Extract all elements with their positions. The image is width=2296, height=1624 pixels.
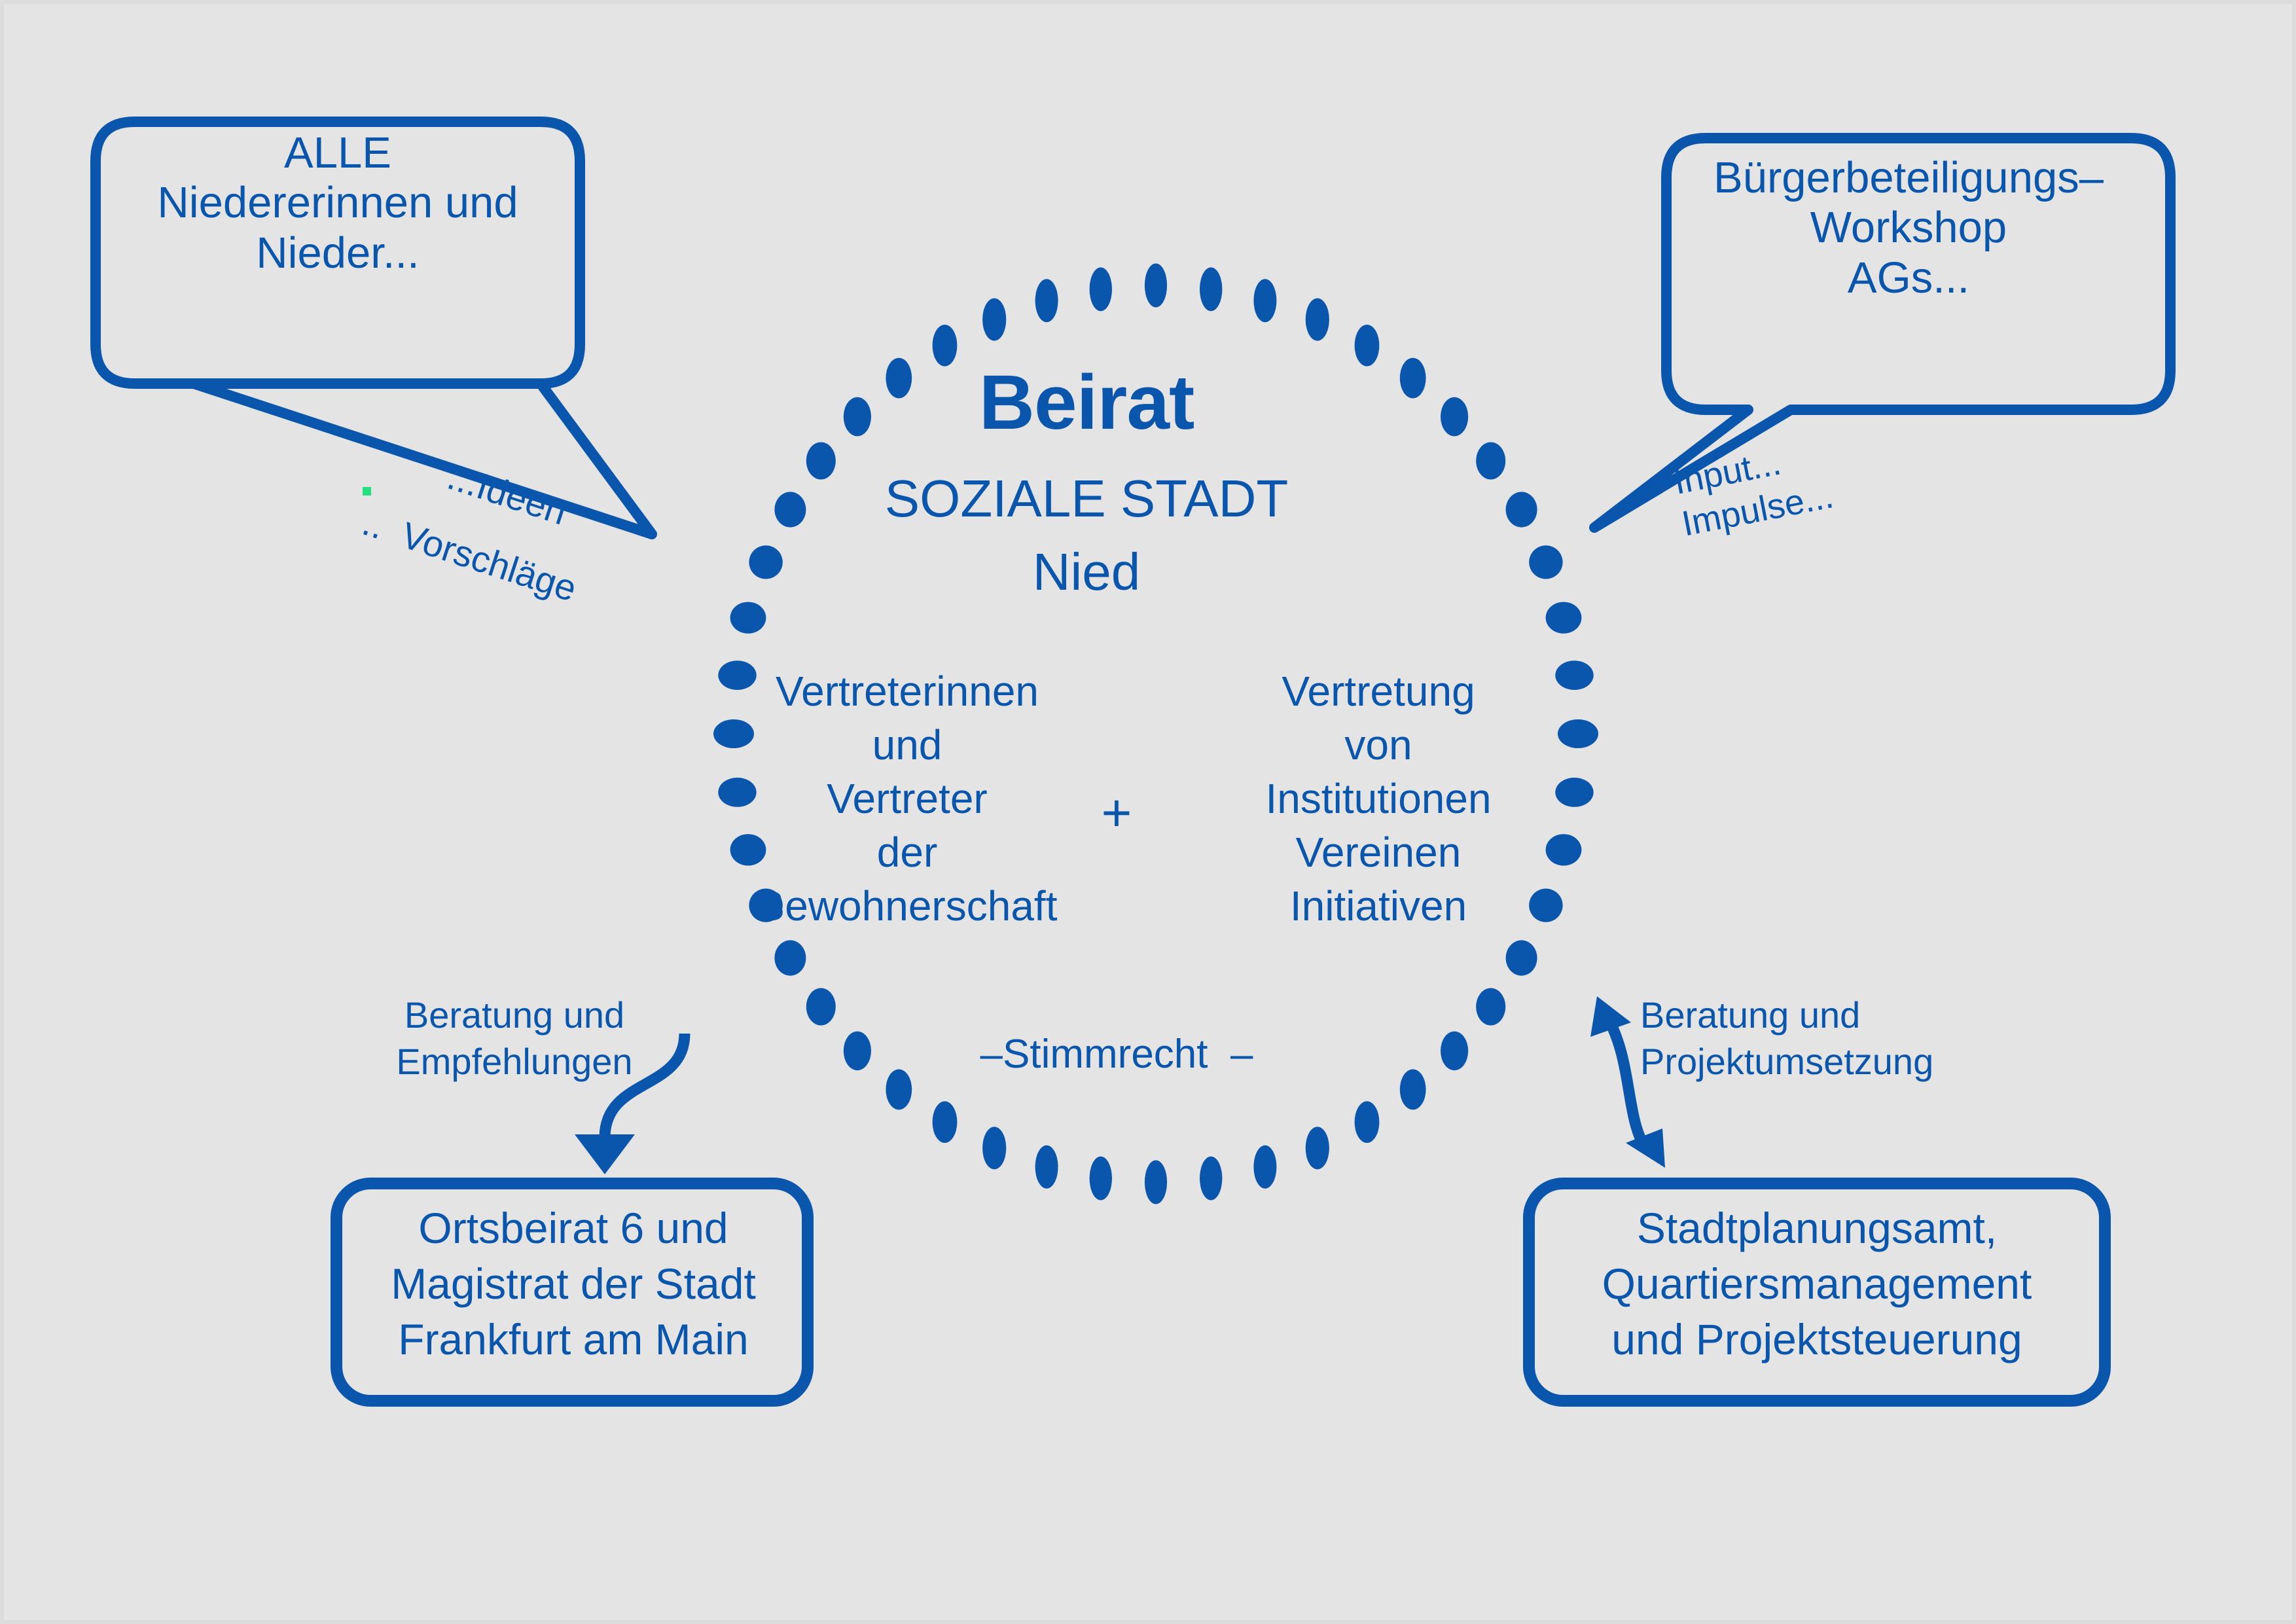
core-column-residents: Vertreterinnen und Vertreter der Bewohne…: [711, 665, 1103, 933]
ring-dot: [1253, 279, 1276, 322]
box-bottom-left-label: Ortsbeirat 6 und Magistrat der Stadt Fra…: [338, 1200, 809, 1367]
core-title: Beirat: [792, 359, 1381, 447]
core-subtitle-program: SOZIALE STADT: [792, 469, 1381, 528]
ring-dot: [1145, 1161, 1167, 1204]
ring-dot: [1529, 545, 1562, 579]
diagram-canvas: ALLE Niedererinnen und Nieder... Bürgerb…: [0, 0, 2296, 1624]
ring-dot: [1035, 1146, 1058, 1189]
core-voting-right-note: –Stimmrecht –: [920, 1032, 1313, 1078]
ring-dot: [844, 1032, 871, 1071]
annotation-beratung-empfehlungen: Beratung und Empfehlungen: [344, 992, 685, 1085]
ring-dot: [982, 298, 1006, 341]
ring-dot: [1506, 940, 1537, 975]
plus-operator: +: [1090, 783, 1143, 842]
ring-dot: [1441, 397, 1468, 437]
ring-dot: [1355, 1101, 1380, 1143]
ring-dot: [1476, 988, 1505, 1026]
ring-dot: [1090, 1157, 1112, 1200]
ring-dot: [982, 1127, 1006, 1169]
ring-dot: [1441, 1032, 1468, 1071]
ring-dot: [1200, 1157, 1222, 1200]
ring-dot: [1306, 1127, 1329, 1169]
ring-dot: [1506, 492, 1537, 527]
annotation-beratung-projektumsetzung: Beratung und Projektumsetzung: [1640, 992, 1981, 1085]
green-accent-dot: [363, 487, 371, 496]
core-subtitle-district: Nied: [792, 542, 1381, 602]
ring-dot: [1476, 442, 1505, 480]
ring-dot: [1200, 268, 1222, 312]
ring-dot: [730, 602, 766, 634]
ring-dot: [886, 1070, 912, 1110]
ring-dot: [1253, 1146, 1276, 1189]
ring-dot: [1035, 279, 1058, 322]
ring-dot: [1400, 1070, 1426, 1110]
box-bottom-right-label: Stadtplanungsamt, Quartiersmanagement un…: [1529, 1200, 2105, 1367]
ring-dot: [1400, 358, 1426, 399]
ring-dot: [933, 1101, 958, 1143]
ring-dot: [1090, 268, 1112, 312]
core-column-institutions: Vertretung von Institutionen Vereinen In…: [1182, 665, 1575, 933]
ring-dot: [1306, 298, 1329, 341]
ring-dot: [1546, 602, 1582, 634]
bubble-left-label: ALLE Niedererinnen und Nieder...: [96, 128, 580, 278]
ring-dot: [774, 940, 806, 975]
bubble-right-label: Bürgerbeteiligungs– Workshop AGs...: [1666, 153, 2151, 303]
ring-dot: [1145, 264, 1167, 308]
ring-dot: [806, 988, 836, 1026]
ring-dot: [749, 545, 782, 579]
